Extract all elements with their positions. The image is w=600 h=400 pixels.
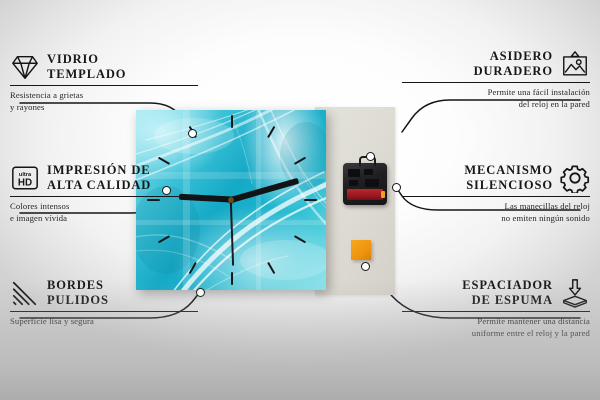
feature-title-line2: TEMPLADO [47,67,126,82]
feature-desc-line1: Las manecillas del reloj [402,201,590,213]
feature-desc-line2: y rayones [10,102,198,114]
polished-edges-icon [10,278,40,308]
connector-dot-asidero [366,152,375,161]
mechanism-slot-d [365,179,379,187]
feature-desc-line1: Permite mantener una distancia [402,316,590,328]
feature-bordes-pulidos: BORDES PULIDOS Superficie lisa y segura [10,278,198,328]
clock-mechanism [343,163,387,205]
connector-dot-vidrio-templado [188,129,197,138]
connector-dot-espaciador [361,262,370,271]
diamond-icon [10,52,40,82]
feature-espaciador-espuma: ESPACIADOR DE ESPUMA Permite mantener un… [402,278,590,339]
feature-desc-line1: Superficie lisa y segura [10,316,198,328]
clock-center-pin [228,197,234,203]
connector-dot-mecanismo [392,183,401,192]
feature-title-line2: DURADERO [474,64,553,79]
picture-frame-hanger-icon [560,49,590,79]
feature-title-line2: DE ESPUMA [462,293,553,308]
feature-title-line1: IMPRESIÓN DE [47,163,151,178]
feature-title-line1: BORDES [47,278,109,293]
feature-title-line1: VIDRIO [47,52,126,67]
hour-marker-5 [267,262,275,274]
foam-spacer-icon [560,278,590,308]
feature-divider [402,82,590,83]
feature-desc-line2: e imagen vívida [10,213,198,225]
feature-divider [402,311,590,312]
feature-impresion-alta-calidad: ultra HD IMPRESIÓN DE ALTA CALIDAD Color… [10,163,198,224]
hour-marker-1 [267,126,275,138]
feature-title-line2: ALTA CALIDAD [47,178,151,193]
feature-divider [10,85,198,86]
hour-marker-6 [231,272,233,285]
hour-marker-12 [231,115,233,128]
feature-desc-line1: Resistencia a grietas [10,90,198,102]
feature-mecanismo-silencioso: MECANISMO SILENCIOSO Las manecillas del … [402,163,590,224]
hour-marker-4 [294,235,306,243]
feature-divider [10,311,198,312]
feature-title-line2: SILENCIOSO [464,178,553,193]
mechanism-slot-b [364,169,373,175]
feature-title-line2: PULIDOS [47,293,109,308]
feature-divider [10,196,198,197]
hour-marker-3 [304,199,317,201]
feature-desc-line2: no emiten ningún sonido [402,213,590,225]
foam-spacer-piece [351,240,371,260]
feature-divider [402,196,590,197]
feature-desc-line1: Colores intensos [10,201,198,213]
feature-desc-line1: Permite una fácil instalación [402,87,590,99]
mechanism-slot-c [349,180,358,186]
hour-marker-7 [189,262,197,274]
clock-battery [347,189,383,200]
feature-title-line1: MECANISMO [464,163,553,178]
product-infographic: VIDRIO TEMPLADO Resistencia a grietas y … [0,0,600,400]
feature-title-line1: ASIDERO [474,49,553,64]
ultra-hd-large-label: HD [18,178,32,189]
ultra-hd-icon: ultra HD [10,163,40,193]
feature-vidrio-templado: VIDRIO TEMPLADO Resistencia a grietas y … [10,52,198,113]
feature-desc-line2: del reloj en la pared [402,99,590,111]
hour-marker-8 [158,235,170,243]
feature-desc-line2: uniforme entre el reloj y la pared [402,328,590,340]
gear-icon [560,163,590,193]
feature-asidero-duradero: ASIDERO DURADERO Permite una fácil insta… [402,49,590,110]
hour-marker-2 [294,157,306,165]
feature-title-line1: ESPACIADOR [462,278,553,293]
mechanism-slot-a [348,169,360,177]
